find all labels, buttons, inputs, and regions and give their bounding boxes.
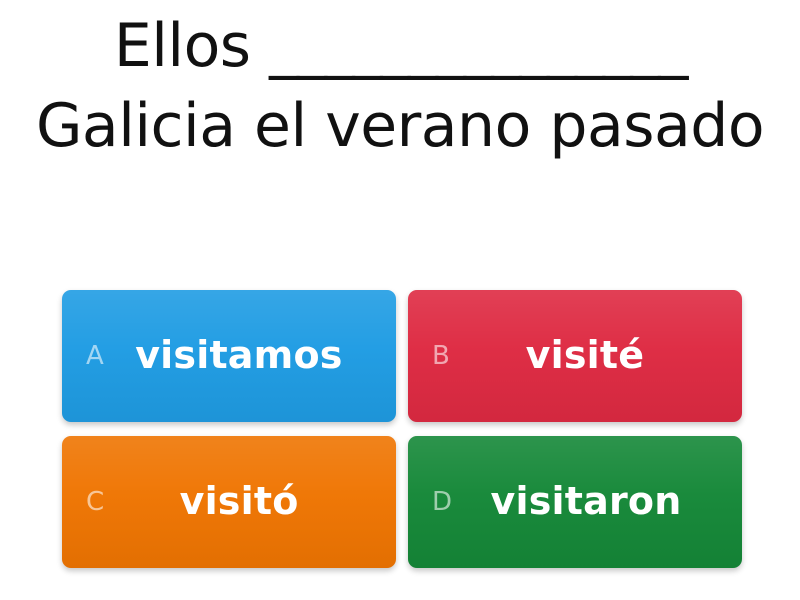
quiz-question-screen: Ellos _______________ Galicia el verano … [0, 0, 800, 600]
answer-letter-a: A [86, 343, 104, 369]
answer-label-a: visitamos [104, 335, 382, 377]
answer-letter-c: C [86, 489, 104, 515]
question-text: Ellos _______________ Galicia el verano … [28, 6, 772, 167]
answer-option-d[interactable]: D visitaron [408, 436, 742, 568]
question-prefix: Ellos [114, 11, 269, 81]
answer-option-c[interactable]: C visitó [62, 436, 396, 568]
question-blank: _______________ [269, 11, 686, 81]
answer-option-a[interactable]: A visitamos [62, 290, 396, 422]
answer-letter-b: B [432, 343, 450, 369]
answer-label-d: visitaron [452, 481, 728, 523]
answer-option-b[interactable]: B visité [408, 290, 742, 422]
question-area: Ellos _______________ Galicia el verano … [0, 0, 800, 290]
answer-label-b: visité [450, 335, 728, 377]
answer-letter-d: D [432, 489, 452, 515]
answer-label-c: visitó [104, 481, 382, 523]
answer-options-grid: A visitamos B visité C visitó D visitaro… [0, 290, 800, 600]
question-suffix: Galicia el verano pasado [36, 91, 764, 161]
